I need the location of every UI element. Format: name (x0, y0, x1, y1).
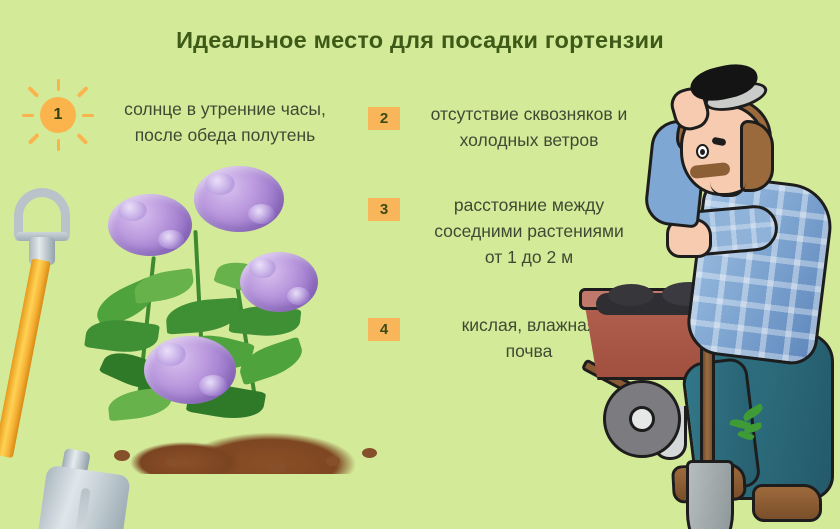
item-3-badge: 3 (368, 198, 400, 221)
hydrangea-bush-illustration (78, 160, 318, 420)
gardener-shovel-blade (686, 460, 734, 529)
item-2-number: 2 (368, 107, 400, 130)
item-1-number: 1 (40, 97, 76, 133)
gardener-illustration (612, 60, 840, 529)
gardener-boot (752, 484, 822, 522)
gardener-plaid-shirt (684, 173, 837, 368)
sun-ray-east (82, 114, 94, 118)
grass-sprig-illustration (726, 398, 766, 446)
item-4-number: 4 (368, 318, 400, 341)
sun-ray-west (22, 114, 34, 118)
item-1-text: солнце в утренние часы, после обеда полу… (100, 96, 350, 148)
soil-clod (362, 448, 377, 458)
spade-shaft (0, 258, 51, 458)
hydrangea-bloom (108, 194, 192, 256)
gardener-pupil (700, 149, 705, 155)
infographic-canvas: Идеальное место для посадки гортензии (0, 0, 840, 529)
page-title: Идеальное место для посадки гортензии (0, 27, 840, 54)
sprig-leaf (741, 403, 765, 421)
soil-mound-illustration (150, 404, 380, 474)
sun-ray-southwest (28, 133, 40, 145)
sun-ray-northeast (77, 86, 89, 98)
soil-clod (268, 462, 286, 473)
soil-clod (166, 458, 179, 467)
sun-ray-south (57, 139, 61, 151)
item-3-number: 3 (368, 198, 400, 221)
soil-clod (326, 456, 340, 466)
spade-blade (33, 465, 131, 529)
sun-ray-north (57, 79, 61, 91)
item-4-badge: 4 (368, 318, 400, 341)
sun-ray-southeast (77, 133, 89, 145)
hydrangea-bloom (240, 252, 318, 312)
hydrangea-bloom (144, 336, 236, 404)
bush-leaf (132, 268, 195, 304)
sun-icon: 1 (22, 79, 94, 151)
sun-disc: 1 (40, 97, 76, 133)
tip-item-1: солнце в утренние часы, после обеда полу… (100, 96, 350, 148)
hydrangea-bloom (194, 166, 284, 232)
sun-ray-northwest (28, 86, 40, 98)
soil-clod (114, 450, 130, 461)
item-2-badge: 2 (368, 107, 400, 130)
